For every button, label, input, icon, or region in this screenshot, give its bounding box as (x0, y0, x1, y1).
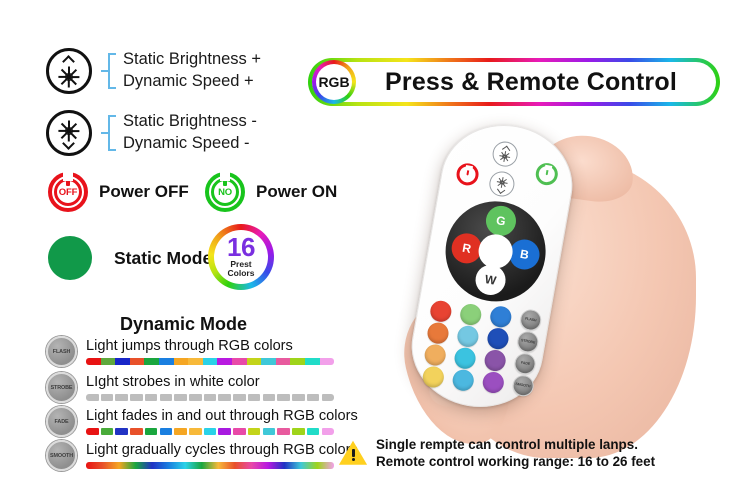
warning-triangle-icon (338, 440, 368, 467)
pad-blue-button[interactable]: B (507, 237, 542, 272)
color-segment (130, 394, 143, 401)
remote-photo: G B R W FLASHSTROBEFADESMOOTH (370, 110, 750, 484)
color-segment (248, 428, 261, 435)
color-segment (130, 428, 143, 435)
color-segment (160, 428, 173, 435)
power-on-tag: NO (205, 187, 245, 198)
color-segment (86, 394, 99, 401)
color-segment (101, 358, 116, 365)
fade-color-bar (86, 428, 334, 435)
strobe-button-label: STROBE (51, 385, 73, 391)
brightness-up-text: Static Brightness + Dynamic Speed + (123, 49, 261, 93)
dynamic-row-strobe: STROBE LIght strobes in white color (46, 372, 334, 403)
smooth-text: Light gradually cycles through RGB color… (86, 442, 358, 460)
color-segment (159, 358, 174, 365)
color-segment (189, 394, 202, 401)
chevron-up-icon (63, 56, 76, 63)
remote-color-button[interactable] (423, 343, 447, 367)
remote-color-button[interactable] (483, 349, 507, 373)
chevron-down-icon (496, 188, 505, 194)
power-off-label: Power OFF (99, 182, 189, 202)
remote-mode-button-fade[interactable]: FADE (513, 351, 537, 375)
pad-green-button[interactable]: G (484, 203, 519, 238)
power-off-row: OFF Power OFF (48, 172, 189, 212)
brightness-down-line1: Static Brightness - (123, 111, 257, 133)
header-inner: Press & Remote Control (312, 62, 716, 102)
brightness-down-text: Static Brightness - Dynamic Speed - (123, 111, 257, 155)
static-mode-swatch (48, 236, 92, 280)
pad-center-button[interactable] (476, 232, 515, 271)
color-segment (248, 394, 261, 401)
rgb-control-pad[interactable]: G B R W (438, 193, 554, 309)
color-segment (263, 394, 276, 401)
strobe-body: LIght strobes in white color (86, 374, 334, 402)
color-segment (277, 394, 290, 401)
color-segment (130, 358, 145, 365)
warning-line2: Remote control working range: 16 to 26 f… (376, 453, 655, 470)
warning-note: Single rempte can control multiple lanps… (338, 436, 655, 470)
preset-colors-badge: 16 Prest Colors (208, 224, 274, 290)
brightness-up-icon (46, 48, 92, 94)
color-segment (232, 358, 247, 365)
color-segment (145, 394, 158, 401)
rgb-badge: RGB (312, 60, 356, 104)
brightness-up-row: Static Brightness + Dynamic Speed + (46, 48, 261, 94)
color-segment (277, 428, 290, 435)
color-segment (292, 394, 305, 401)
color-segment (101, 394, 114, 401)
flash-color-bar (86, 358, 334, 365)
header-banner: Press & Remote Control RGB (308, 58, 720, 106)
dynamic-row-fade: FADE Light fades in and out through RGB … (46, 406, 358, 437)
remote-color-button[interactable] (426, 321, 450, 345)
color-segment (322, 428, 335, 435)
color-segment (292, 428, 305, 435)
flash-button-label: FLASH (53, 349, 70, 355)
warning-line1: Single rempte can control multiple lanps… (376, 436, 655, 453)
remote-mode-button-flash[interactable]: FLASH (519, 308, 543, 332)
flash-button[interactable]: FLASH (46, 336, 77, 367)
color-segment (290, 358, 305, 365)
flash-text: Light jumps through RGB colors (86, 338, 334, 356)
pad-red-label: R (461, 241, 472, 256)
color-segment (115, 394, 128, 401)
color-segment (101, 428, 114, 435)
preset-count: 16 (227, 236, 255, 260)
color-segment (261, 358, 276, 365)
remote-color-button[interactable] (456, 324, 480, 348)
remote-power-off-button[interactable] (455, 162, 480, 187)
smooth-body: Light gradually cycles through RGB color… (86, 442, 358, 470)
power-off-tag: OFF (48, 187, 88, 198)
color-button-grid: FLASHSTROBEFADESMOOTH (417, 299, 543, 405)
color-segment (218, 394, 231, 401)
color-segment (86, 358, 101, 365)
brightness-up-line2: Dynamic Speed + (123, 71, 261, 93)
remote-color-button[interactable] (486, 327, 510, 351)
color-segment (86, 428, 99, 435)
color-segment (307, 428, 320, 435)
infographic-page: Press & Remote Control RGB (0, 0, 750, 484)
color-segment (144, 358, 159, 365)
mode-button-label: FADE (521, 361, 531, 367)
color-segment (188, 358, 203, 365)
static-mode-label: Static Mode (114, 248, 212, 269)
fade-body: Light fades in and out through RGB color… (86, 408, 358, 436)
preset-line2: Colors (228, 269, 255, 278)
color-segment (204, 394, 217, 401)
chevron-down-icon (63, 141, 76, 148)
pad-blue-label: B (519, 247, 530, 262)
remote-color-button[interactable] (421, 365, 445, 389)
smooth-color-bar (86, 462, 334, 469)
smooth-button-label: SMOOTH (50, 453, 73, 459)
dynamic-row-smooth: SMOOTH Light gradually cycles through RG… (46, 440, 358, 471)
flash-body: Light jumps through RGB colors (86, 338, 334, 366)
remote-color-button[interactable] (489, 305, 513, 329)
strobe-text: LIght strobes in white color (86, 374, 334, 392)
brightness-down-icon (46, 110, 92, 156)
remote-color-button[interactable] (453, 346, 477, 370)
sun-icon (498, 150, 511, 163)
fade-button[interactable]: FADE (46, 406, 77, 437)
mode-button-label: FLASH (525, 317, 537, 323)
remote-brightness-down-button[interactable] (487, 169, 516, 198)
color-segment (218, 428, 231, 435)
remote-color-button[interactable] (429, 299, 453, 323)
remote-mode-button-strobe[interactable]: STROBE (516, 330, 540, 354)
power-on-label: Power ON (256, 182, 337, 202)
color-segment (203, 358, 218, 365)
page-title: Press & Remote Control (351, 68, 677, 97)
color-segment (174, 428, 187, 435)
color-segment (115, 358, 130, 365)
preset-badge-inner: 16 Prest Colors (214, 230, 268, 284)
sun-icon (58, 66, 80, 88)
power-off-icon: OFF (48, 172, 88, 212)
power-on-icon: NO (205, 172, 245, 212)
color-segment (160, 394, 173, 401)
color-segment (320, 358, 335, 365)
color-segment (204, 428, 217, 435)
remote-power-on-button[interactable] (534, 161, 559, 186)
warning-text: Single rempte can control multiple lanps… (376, 436, 655, 470)
strobe-button[interactable]: STROBE (46, 372, 77, 403)
color-segment (307, 394, 320, 401)
remote-brightness-up-button[interactable] (491, 140, 520, 169)
color-segment (189, 428, 202, 435)
color-segment (115, 428, 128, 435)
brightness-up-line1: Static Brightness + (123, 49, 261, 71)
color-segment (233, 394, 246, 401)
remote-color-button[interactable] (481, 370, 505, 394)
color-segment (233, 428, 246, 435)
color-segment (322, 394, 335, 401)
mode-button-label: STROBE (521, 338, 536, 344)
mode-button-label: SMOOTH (515, 382, 531, 389)
brightness-down-row: Static Brightness - Dynamic Speed - (46, 110, 257, 156)
static-mode-row: Static Mode (48, 236, 212, 280)
fade-text: Light fades in and out through RGB color… (86, 408, 358, 426)
color-segment (247, 358, 262, 365)
bracket-connector (101, 51, 117, 91)
color-segment (174, 394, 187, 401)
brightness-down-line2: Dynamic Speed - (123, 133, 257, 155)
strobe-color-bar (86, 394, 334, 401)
rgb-badge-label: RGB (318, 74, 349, 90)
remote-color-button[interactable] (451, 368, 475, 392)
pad-green-label: G (495, 213, 507, 228)
color-segment (217, 358, 232, 365)
color-segment (174, 358, 189, 365)
smooth-button[interactable]: SMOOTH (46, 440, 77, 471)
power-on-row: NO Power ON (205, 172, 337, 212)
color-segment (263, 428, 276, 435)
pad-white-label: W (484, 272, 498, 288)
fade-button-label: FADE (55, 419, 69, 425)
color-segment (305, 358, 320, 365)
bracket-connector (101, 113, 117, 153)
dynamic-row-flash: FLASH Light jumps through RGB colors (46, 336, 334, 367)
dynamic-mode-title: Dynamic Mode (120, 314, 247, 335)
color-segment (276, 358, 291, 365)
color-segment (145, 428, 158, 435)
remote-color-button[interactable] (459, 302, 483, 326)
